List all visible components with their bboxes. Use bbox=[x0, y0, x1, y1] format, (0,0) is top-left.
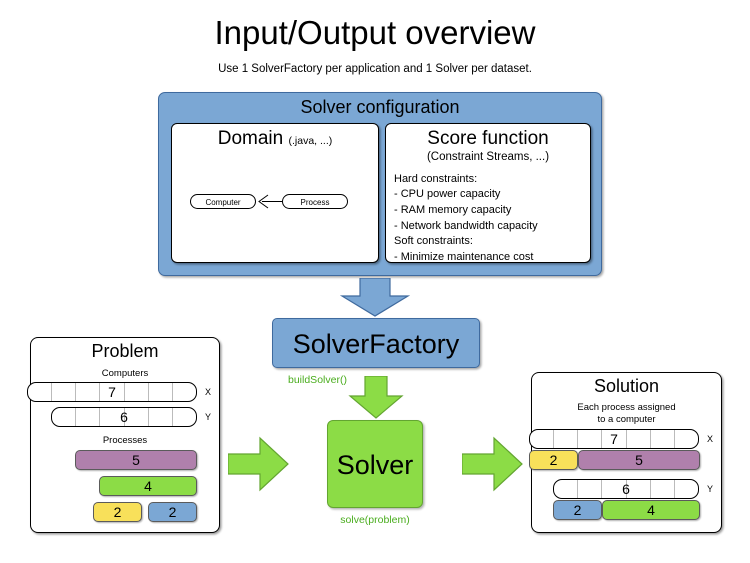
capacity-value: 6 bbox=[52, 408, 196, 426]
domain-title-main: Domain bbox=[218, 128, 283, 149]
constraint-line: - CPU power capacity bbox=[394, 187, 590, 203]
solution-subtitle: Each process assigned to a computer bbox=[532, 402, 721, 426]
computer-capacity-bar: 6 bbox=[51, 407, 197, 427]
capacity-value: 6 bbox=[554, 480, 698, 498]
constraint-line: - Network bandwidth capacity bbox=[394, 219, 590, 235]
problem-panel: Problem Computers 7 X 6 Y Processes 5 4 … bbox=[30, 337, 220, 533]
process-row: 4 bbox=[31, 476, 219, 498]
computer-row: 6 Y bbox=[532, 479, 721, 501]
solver-configuration-box: Solver configuration Domain (.java, ...)… bbox=[158, 92, 602, 276]
constraint-list: Hard constraints: - CPU power capacity -… bbox=[394, 172, 590, 266]
solver-box: Solver bbox=[327, 420, 423, 508]
process-bar: 4 bbox=[99, 476, 197, 496]
capacity-value: 7 bbox=[530, 430, 698, 448]
constraint-line: - RAM memory capacity bbox=[394, 203, 590, 219]
assigned-process-bar: 4 bbox=[602, 500, 700, 520]
solver-factory-box: SolverFactory bbox=[272, 318, 480, 368]
computer-row: 7 X bbox=[532, 429, 721, 451]
assigned-process-bar: 2 bbox=[529, 450, 578, 470]
process-bar: 2 bbox=[148, 502, 197, 522]
page-subtitle: Use 1 SolverFactory per application and … bbox=[0, 63, 750, 75]
computer-axis-label: X bbox=[205, 382, 211, 402]
computer-row: 7 X bbox=[31, 382, 219, 404]
assigned-process-row: 2 5 bbox=[532, 450, 721, 470]
solver-configuration-title: Solver configuration bbox=[159, 97, 601, 118]
process-bar: 5 bbox=[75, 450, 197, 470]
constraint-line: - Minimize maintenance cost bbox=[394, 250, 590, 266]
computers-label: Computers bbox=[31, 368, 219, 379]
solution-subtitle-line2: to a computer bbox=[532, 414, 721, 426]
domain-title-suffix: (.java, ...) bbox=[289, 135, 333, 147]
score-function-subtitle: (Constraint Streams, ...) bbox=[386, 151, 590, 163]
arrow-down-config-to-factory bbox=[330, 278, 420, 318]
problem-title: Problem bbox=[31, 341, 219, 362]
score-function-card: Score function (Constraint Streams, ...)… bbox=[385, 123, 591, 263]
computer-capacity-bar: 6 bbox=[553, 479, 699, 499]
process-bar: 2 bbox=[93, 502, 142, 522]
constraint-line: Hard constraints: bbox=[394, 172, 590, 188]
assigned-process-bar: 2 bbox=[553, 500, 602, 520]
arrow-right-solver-to-solution bbox=[462, 434, 524, 494]
process-row: 5 bbox=[31, 450, 219, 472]
capacity-value: 7 bbox=[28, 383, 196, 401]
processes-label: Processes bbox=[31, 435, 219, 446]
computer-row: 6 Y bbox=[31, 407, 219, 429]
computer-axis-label: X bbox=[707, 429, 713, 449]
computer-axis-label: Y bbox=[205, 407, 211, 427]
process-row: 2 2 bbox=[31, 502, 219, 524]
build-solver-label: buildSolver() bbox=[288, 374, 347, 386]
solution-title: Solution bbox=[532, 376, 721, 397]
assigned-process-row: 2 4 bbox=[532, 500, 721, 520]
computer-capacity-bar: 7 bbox=[529, 429, 699, 449]
constraint-line: Soft constraints: bbox=[394, 234, 590, 250]
entity-relation-arrow bbox=[172, 186, 380, 226]
arrow-right-problem-to-solver bbox=[228, 434, 290, 494]
domain-card: Domain (.java, ...) Computer Process bbox=[171, 123, 379, 263]
page-title: Input/Output overview bbox=[0, 14, 750, 52]
score-function-title: Score function bbox=[386, 128, 590, 150]
arrow-down-factory-to-solver bbox=[345, 376, 407, 420]
domain-title: Domain (.java, ...) bbox=[172, 128, 378, 150]
assigned-process-bar: 5 bbox=[578, 450, 700, 470]
solution-panel: Solution Each process assigned to a comp… bbox=[531, 372, 722, 533]
computer-capacity-bar: 7 bbox=[27, 382, 197, 402]
computer-axis-label: Y bbox=[707, 479, 713, 499]
solution-subtitle-line1: Each process assigned bbox=[532, 402, 721, 414]
domain-entity-diagram: Computer Process bbox=[172, 186, 378, 226]
